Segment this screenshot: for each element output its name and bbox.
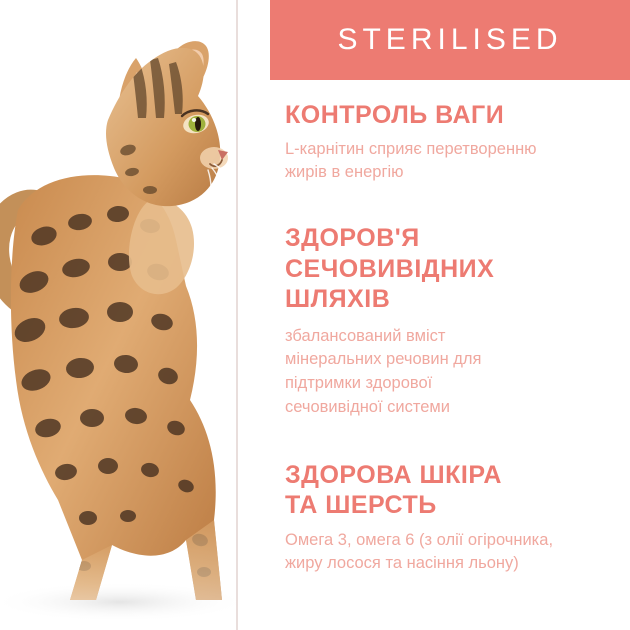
product-infographic: STERILISED КОНТРОЛЬ ВАГИ L-карнітин спри… — [0, 0, 630, 630]
benefit-title-line: ЗДОРОВА ШКІРА — [285, 460, 630, 491]
banner-title: STERILISED — [337, 23, 562, 57]
benefit-block: КОНТРОЛЬ ВАГИ L-карнітин сприяє перетвор… — [285, 100, 630, 185]
benefit-title-line: КОНТРОЛЬ ВАГИ — [285, 100, 630, 131]
benefit-body-line: L-карнітин сприяє перетворенню — [285, 138, 630, 162]
benefit-title-line: СЕЧОВИВІДНИХ — [285, 254, 630, 285]
benefit-body: L-карнітин сприяє перетворенню жирів в е… — [285, 138, 630, 186]
sterilised-banner: STERILISED — [270, 0, 630, 80]
benefit-title: ЗДОРОВА ШКІРА ТА ШЕРСТЬ — [285, 460, 630, 521]
benefit-body: збалансований вміст мінеральних речовин … — [285, 325, 630, 420]
benefit-body: Омега 3, омега 6 (з олії огірочника, жир… — [285, 529, 630, 577]
benefit-body-line: Омега 3, омега 6 (з олії огірочника, — [285, 529, 630, 553]
benefit-body-line: мінеральних речовин для — [285, 348, 630, 372]
benefit-title: КОНТРОЛЬ ВАГИ — [285, 100, 630, 131]
content-column: STERILISED КОНТРОЛЬ ВАГИ L-карнітин спри… — [238, 0, 630, 630]
benefit-title: ЗДОРОВ'Я СЕЧОВИВІДНИХ ШЛЯХІВ — [285, 223, 630, 315]
benefit-block: ЗДОРОВА ШКІРА ТА ШЕРСТЬ Омега 3, омега 6… — [285, 460, 630, 577]
benefit-body-line: підтримки здорової — [285, 372, 630, 396]
benefit-title-line: ТА ШЕРСТЬ — [285, 490, 630, 521]
benefit-body-line: збалансований вміст — [285, 325, 630, 349]
cat-photo-panel — [0, 0, 236, 630]
benefit-body-line: жирів в енергію — [285, 161, 630, 185]
benefit-blocks: КОНТРОЛЬ ВАГИ L-карнітин сприяє перетвор… — [285, 100, 630, 598]
benefit-body-line: жиру лосося та насіння льону) — [285, 552, 630, 576]
bengal-cat-image — [0, 0, 236, 630]
benefit-body-line: сечовивідної системи — [285, 396, 630, 420]
benefit-block: ЗДОРОВ'Я СЕЧОВИВІДНИХ ШЛЯХІВ збалансован… — [285, 223, 630, 420]
benefit-title-line: ШЛЯХІВ — [285, 284, 630, 315]
benefit-title-line: ЗДОРОВ'Я — [285, 223, 630, 254]
